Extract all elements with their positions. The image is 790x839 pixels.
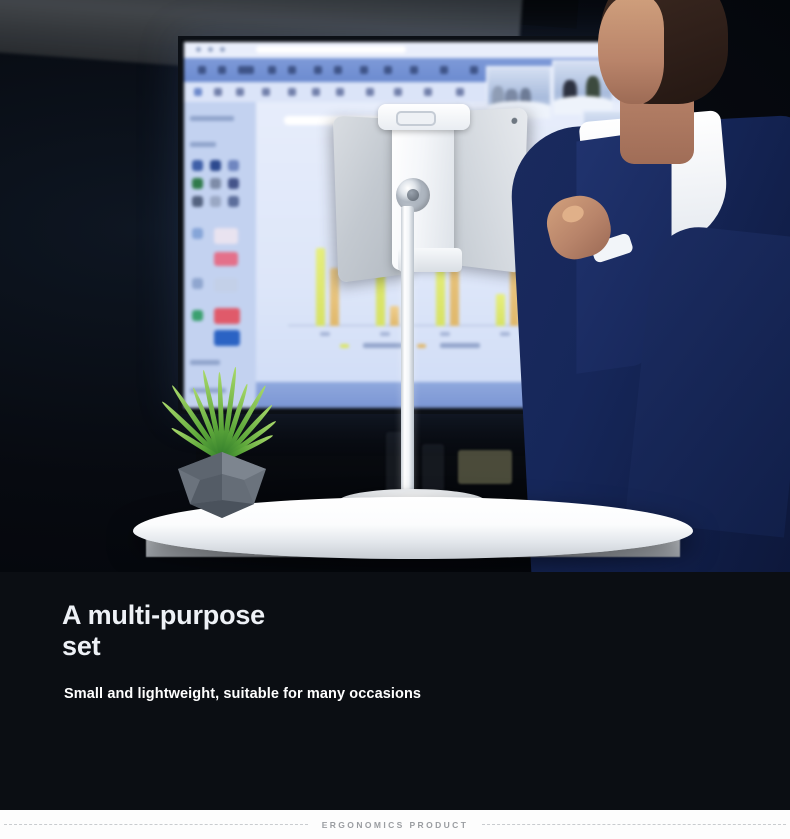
url-pill [256,46,406,53]
chart-bar [390,306,399,326]
page-subheadline: Small and lightweight, suitable for many… [64,686,421,702]
plant-foliage [172,368,272,460]
face [598,0,664,104]
potted-plant [172,368,272,520]
product-marketing-page: A multi-purpose set Small and lightweigh… [0,0,790,839]
chart-bar [496,294,505,326]
page-footer: ERGONOMICS PRODUCT [0,810,790,839]
plant-pot [178,452,266,518]
footer-rule-right [482,824,786,825]
product-hero-photo [0,0,790,572]
stand-pole [401,206,414,502]
page-headline: A multi-purpose set [62,600,482,663]
chart-bar [316,248,325,326]
headline-line-2: set [62,631,100,661]
headline-line-1: A multi-purpose [62,600,265,630]
person-in-suit [562,0,790,320]
stand-clamp-slot [396,111,436,126]
footer-brand-text: ERGONOMICS PRODUCT [322,820,469,830]
faceted-pot-shape [178,452,266,518]
chart-bar [330,268,339,326]
tablet-camera-icon [511,118,517,124]
marketing-text-block: A multi-purpose set Small and lightweigh… [0,572,790,810]
app-sidebar [184,102,256,408]
footer-rule-left [4,824,308,825]
